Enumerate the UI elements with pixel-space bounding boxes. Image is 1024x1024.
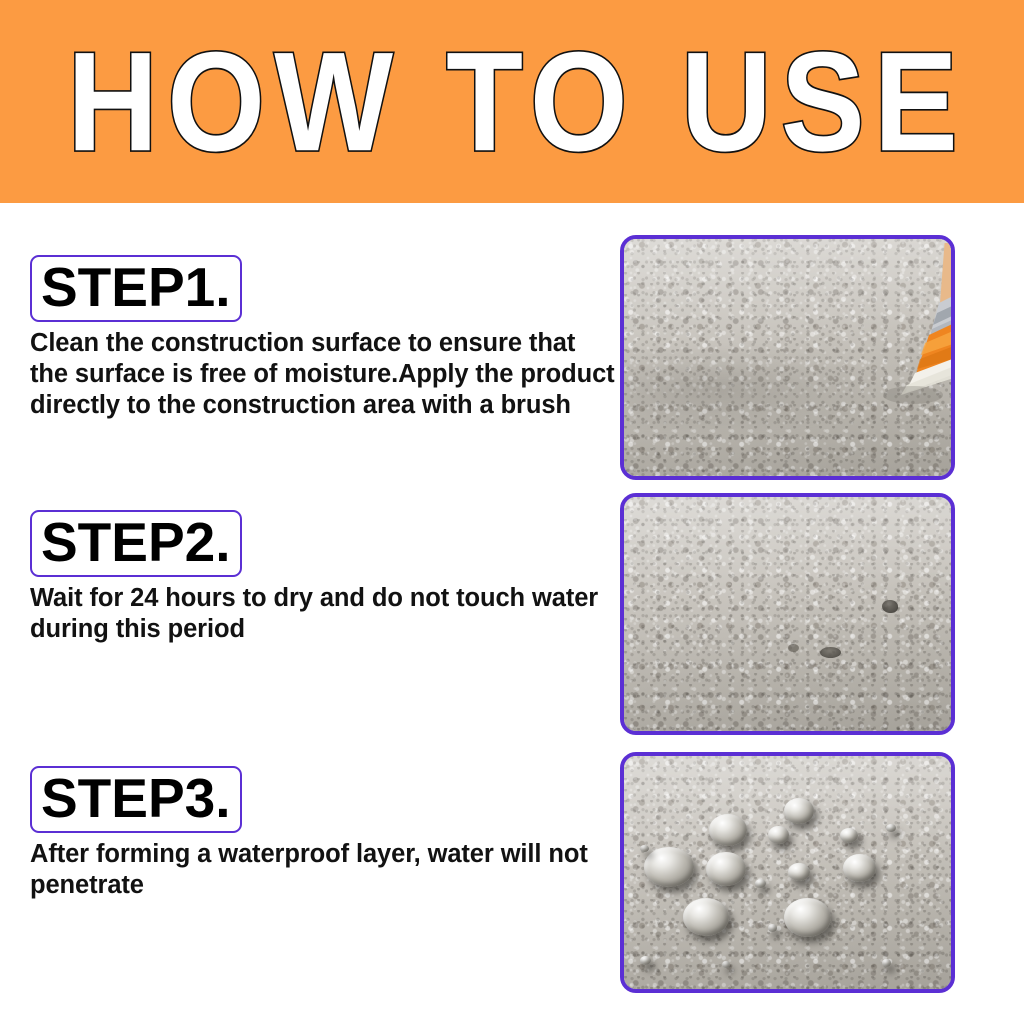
step-badge-label-3: STEP3. <box>41 769 231 827</box>
step-badge-1: STEP1. <box>30 255 242 322</box>
step-badge-label-1: STEP1. <box>41 258 231 316</box>
step-block-2: STEP2. Wait for 24 hours to dry and do n… <box>30 510 610 645</box>
water-droplet <box>683 898 729 936</box>
water-droplet <box>886 824 896 832</box>
water-droplet <box>788 863 810 881</box>
photos-column <box>620 203 960 1024</box>
water-droplet <box>640 845 649 852</box>
water-droplet <box>644 847 694 887</box>
surface-pit <box>882 600 898 613</box>
step-photo-2 <box>620 493 955 735</box>
water-droplet <box>843 854 876 882</box>
water-droplet <box>706 852 746 886</box>
steps-column: STEP1. Clean the construction surface to… <box>30 203 610 1024</box>
step-badge-3: STEP3. <box>30 766 242 833</box>
water-droplet <box>768 826 789 844</box>
water-droplet <box>768 924 777 932</box>
surface-pit <box>820 647 841 658</box>
step-block-1: STEP1. Clean the construction surface to… <box>30 255 610 421</box>
water-droplet <box>784 798 814 824</box>
step-photo-1 <box>620 235 955 480</box>
step-badge-2: STEP2. <box>30 510 242 577</box>
content-area: STEP1. Clean the construction surface to… <box>0 203 1024 1024</box>
page-title: HOW TO USE <box>0 0 1024 203</box>
step-block-3: STEP3. After forming a waterproof layer,… <box>30 766 610 901</box>
step-photo-3 <box>620 752 955 993</box>
step-description-2: Wait for 24 hours to dry and do not touc… <box>30 583 615 645</box>
paint-brush-icon <box>817 243 955 443</box>
header-banner: HOW TO USE <box>0 0 1024 203</box>
step-badge-label-2: STEP2. <box>41 513 231 571</box>
water-droplet <box>882 959 891 967</box>
photo-lighting-overlay <box>624 497 951 731</box>
step-description-1: Clean the construction surface to ensure… <box>30 328 615 421</box>
step-description-3: After forming a waterproof layer, water … <box>30 839 615 901</box>
water-droplet <box>840 828 858 843</box>
